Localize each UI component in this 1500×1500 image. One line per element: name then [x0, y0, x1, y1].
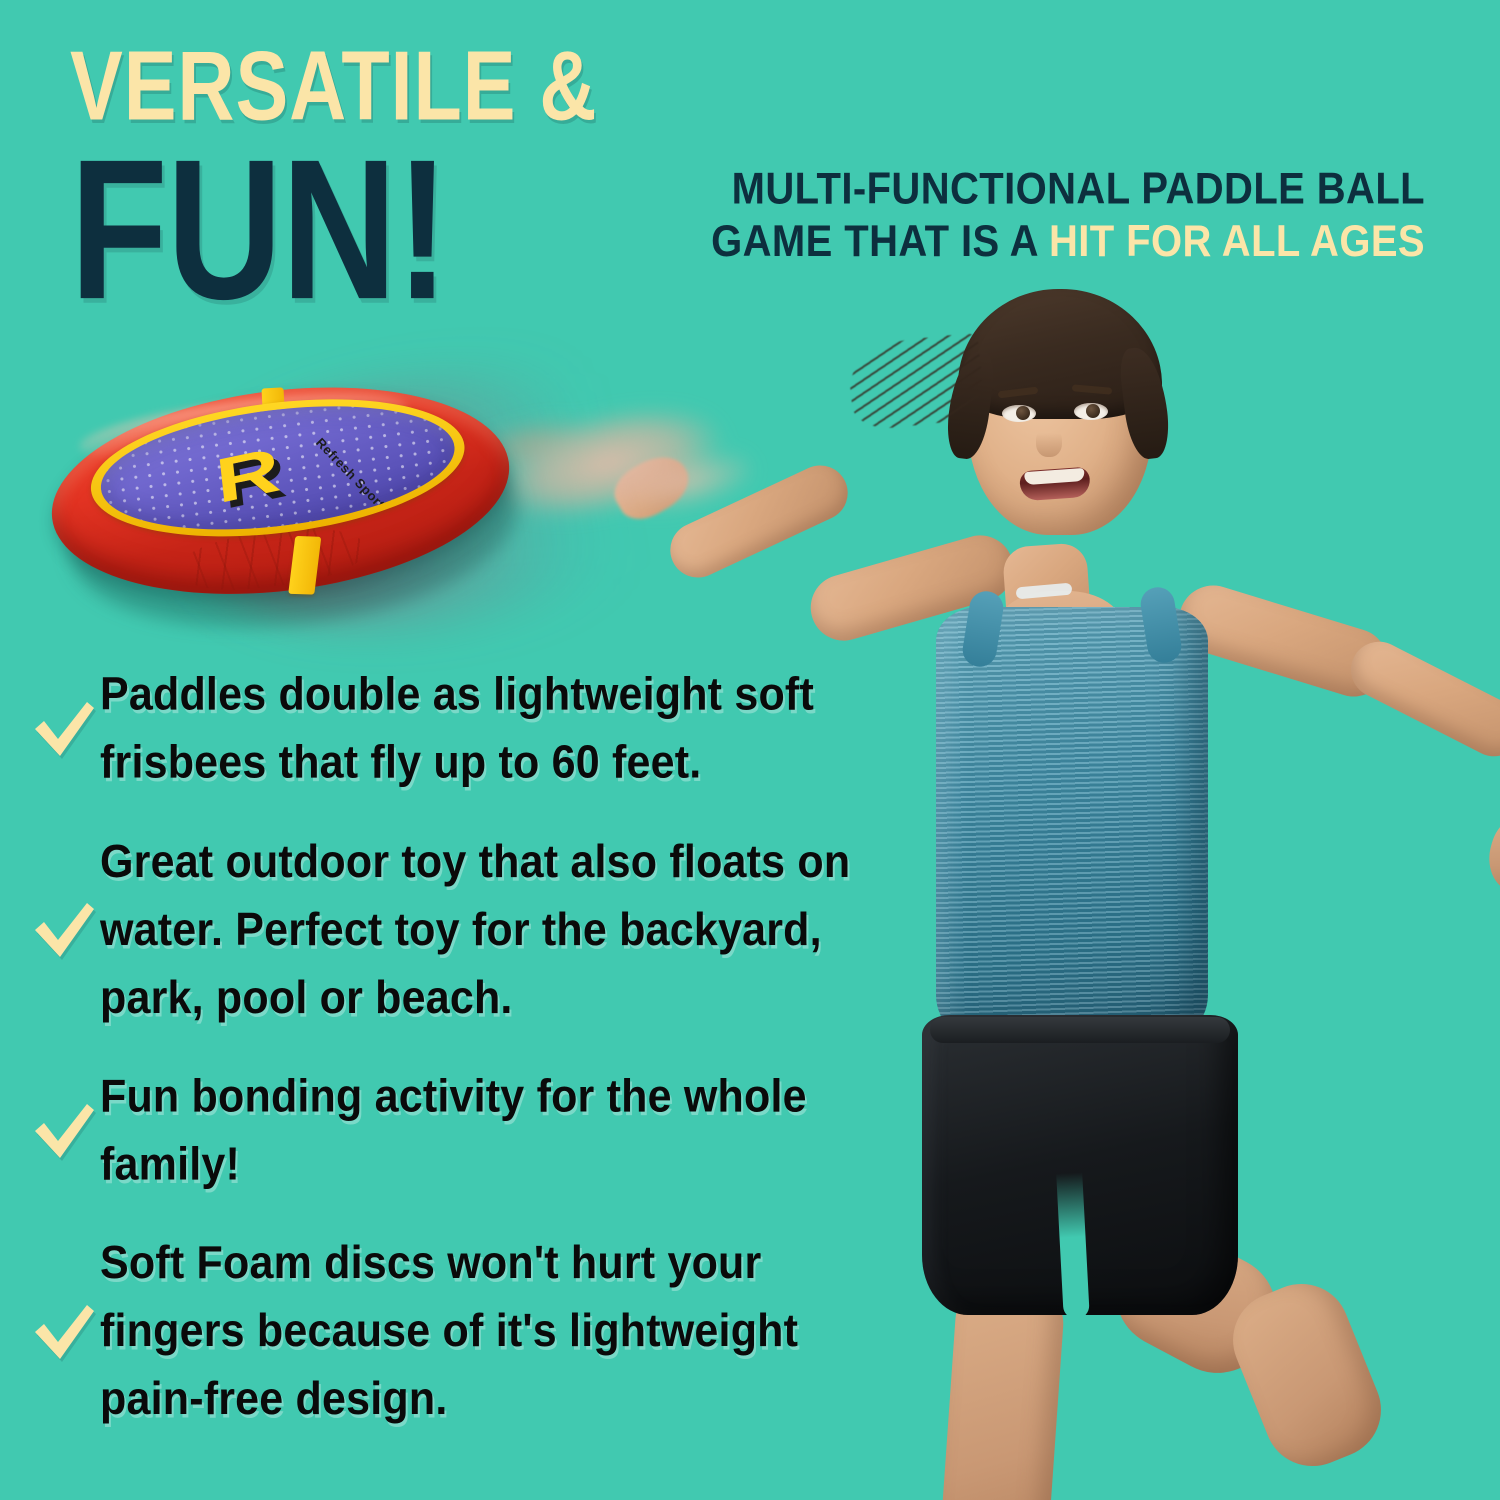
list-item-label: Great outdoor toy that also floats on wa… — [100, 828, 890, 1031]
list-item-label: Fun bonding activity for the whole famil… — [100, 1063, 890, 1199]
tank-top — [936, 607, 1208, 1047]
list-item: Fun bonding activity for the whole famil… — [28, 1068, 908, 1194]
brand-logo: R Refresh Sports — [213, 421, 373, 513]
product-frisbee: R Refresh Sports — [28, 372, 748, 652]
check-icon — [28, 1101, 100, 1161]
subheading: MULTI-FUNCTIONAL PADDLE BALL GAME THAT I… — [595, 163, 1425, 269]
teeth — [1024, 468, 1085, 485]
check-icon — [28, 699, 100, 759]
list-item-label: Soft Foam discs won't hurt your fingers … — [100, 1230, 890, 1433]
product-marketing-image: VERSATILE & FUN! MULTI-FUNCTIONAL PADDLE… — [0, 0, 1500, 1500]
subheading-plain: GAME THAT IS A — [711, 217, 1049, 266]
nose — [1036, 427, 1062, 457]
list-item: Paddles double as lightweight soft frisb… — [28, 666, 908, 792]
check-icon — [28, 1302, 100, 1362]
right-hand — [1480, 808, 1500, 900]
right-forearm — [1341, 632, 1500, 766]
list-item-label: Paddles double as lightweight soft frisb… — [100, 661, 890, 797]
subheading-line-2: GAME THAT IS A HIT FOR ALL AGES — [595, 216, 1425, 269]
logo-brand-text: Refresh Sports — [313, 435, 393, 518]
headline-block: VERSATILE & FUN! — [70, 42, 643, 293]
subheading-line-1: MULTI-FUNCTIONAL PADDLE BALL — [595, 163, 1425, 216]
right-pupil — [1086, 404, 1100, 418]
logo-letter: R — [213, 440, 278, 514]
subheading-highlight: HIT FOR ALL AGES — [1049, 217, 1425, 266]
check-icon — [28, 900, 100, 960]
list-item: Soft Foam discs won't hurt your fingers … — [28, 1237, 908, 1425]
headline-line-2: FUN! — [70, 145, 603, 317]
shorts-waistband — [930, 1017, 1230, 1043]
list-item: Great outdoor toy that also floats on wa… — [28, 836, 908, 1024]
left-pupil — [1016, 406, 1030, 420]
feature-bullet-list: Paddles double as lightweight soft frisb… — [28, 666, 908, 1470]
